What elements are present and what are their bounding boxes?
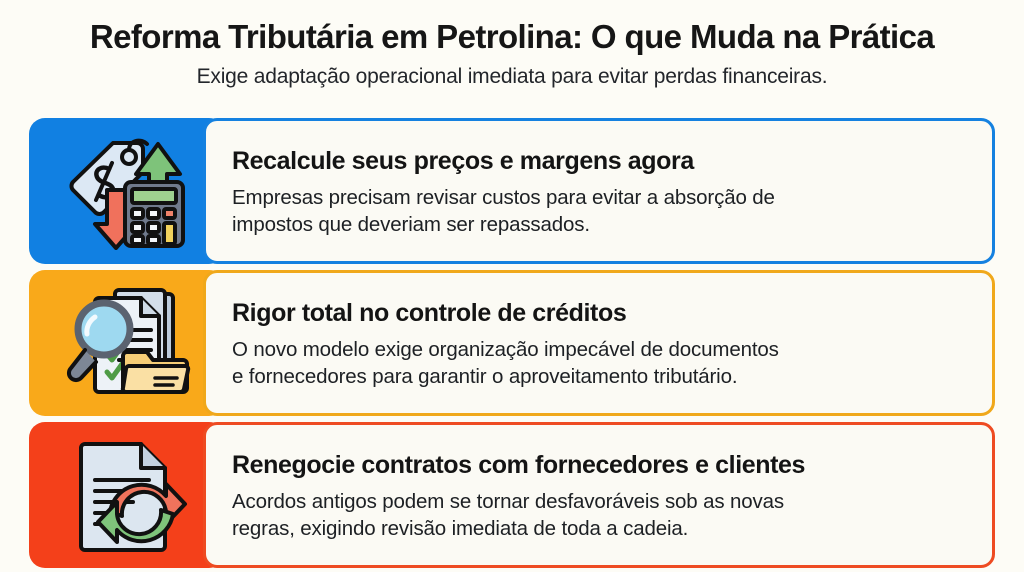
card-body-line: O novo modelo exige organização impecáve… (232, 336, 970, 363)
card-item: Renegocie contratos com fornecedores e c… (29, 422, 995, 568)
card-body: O novo modelo exige organização impecáve… (232, 336, 970, 391)
card-item: Rigor total no controle de créditos O no… (29, 270, 995, 416)
page-subtitle: Exige adaptação operacional imediata par… (0, 65, 1024, 89)
icon-panel-credits (29, 270, 225, 416)
card-title: Recalcule seus preços e margens agora (232, 148, 970, 176)
infographic-page: Reforma Tributária em Petrolina: O que M… (0, 0, 1024, 572)
document-refresh-cycle-icon (63, 436, 191, 554)
card-text-panel: Recalcule seus preços e margens agora Em… (203, 118, 995, 264)
price-tag-calculator-icon (63, 132, 191, 250)
card-list: Recalcule seus preços e margens agora Em… (29, 118, 995, 572)
card-body: Acordos antigos podem se tornar desfavor… (232, 488, 970, 543)
card-text-panel: Rigor total no controle de créditos O no… (203, 270, 995, 416)
card-title: Rigor total no controle de créditos (232, 300, 970, 328)
card-body-line: impostos que deveriam ser repassados. (232, 211, 970, 238)
card-title: Renegocie contratos com fornecedores e c… (232, 452, 970, 480)
card-item: Recalcule seus preços e margens agora Em… (29, 118, 995, 264)
card-body: Empresas precisam revisar custos para ev… (232, 184, 970, 239)
magnifier-documents-folder-icon (63, 284, 191, 402)
card-body-line: e fornecedores para garantir o aproveita… (232, 363, 970, 390)
card-body-line: regras, exigindo revisão imediata de tod… (232, 515, 970, 542)
card-body-line: Acordos antigos podem se tornar desfavor… (232, 488, 970, 515)
icon-panel-pricing (29, 118, 225, 264)
card-body-line: Empresas precisam revisar custos para ev… (232, 184, 970, 211)
card-text-panel: Renegocie contratos com fornecedores e c… (203, 422, 995, 568)
header: Reforma Tributária em Petrolina: O que M… (0, 0, 1024, 89)
page-title: Reforma Tributária em Petrolina: O que M… (0, 19, 1024, 56)
icon-panel-contracts (29, 422, 225, 568)
